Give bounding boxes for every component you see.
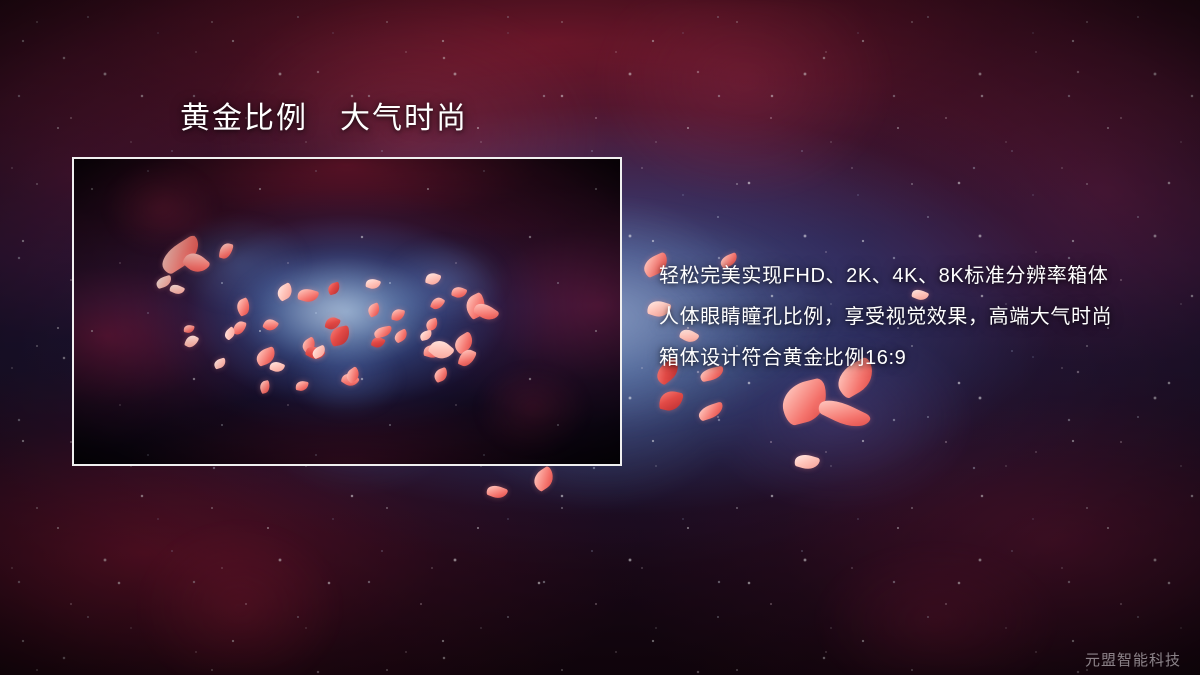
petal-decoration — [794, 452, 821, 472]
body-line-2: 人体眼睛瞳孔比例，享受视觉效果，高端大气时尚 — [659, 297, 1179, 338]
framed-image-nebula — [74, 159, 620, 464]
petal-decoration — [366, 302, 381, 317]
petal-decoration — [425, 317, 440, 331]
slide-canvas: 黄金比例 大气时尚 轻松完美实现FHD、2K、4K、8K标准分辨率箱体 人体眼睛… — [0, 0, 1200, 675]
petal-decoration — [213, 358, 227, 370]
petal-decoration — [295, 380, 309, 392]
petal-decoration — [297, 286, 320, 304]
petal-decoration — [183, 324, 194, 334]
petal-decoration — [486, 483, 509, 501]
body-line-3: 箱体设计符合黄金比例16:9 — [659, 338, 1179, 379]
petal-decoration — [169, 282, 186, 296]
petal-decoration — [429, 295, 445, 312]
petal-decoration — [275, 282, 296, 302]
petal-decoration — [218, 242, 234, 260]
petal-decoration — [392, 328, 409, 343]
petal-decoration — [373, 326, 392, 339]
watermark: 元盟智能科技 — [1085, 649, 1181, 670]
petal-decoration — [530, 465, 558, 492]
petal-decoration — [658, 389, 684, 413]
petal-decoration — [424, 271, 441, 287]
framed-image — [72, 157, 622, 466]
petal-decoration — [427, 336, 455, 364]
body-text-block: 轻松完美实现FHD、2K、4K、8K标准分辨率箱体 人体眼睛瞳孔比例，享受视觉效… — [659, 256, 1179, 379]
petal-decoration — [262, 316, 279, 333]
body-line-1: 轻松完美实现FHD、2K、4K、8K标准分辨率箱体 — [659, 256, 1179, 297]
petal-decoration — [697, 401, 726, 421]
framed-image-vignette — [74, 159, 620, 464]
page-title: 黄金比例 大气时尚 — [180, 102, 468, 135]
petal-decoration — [365, 277, 381, 291]
petal-decoration — [432, 367, 449, 383]
petal-decoration — [234, 297, 252, 317]
framed-image-core-glow — [74, 159, 620, 464]
framed-image-starfield — [74, 159, 620, 464]
framed-image-wisps — [74, 159, 620, 464]
petal-decoration — [269, 360, 286, 375]
petal-decoration — [184, 333, 200, 350]
petal-decoration — [419, 330, 433, 341]
petal-decoration — [816, 394, 872, 435]
petal-decoration — [391, 308, 406, 323]
petal-decoration — [327, 282, 342, 296]
petal-decoration — [259, 380, 272, 394]
petal-decoration — [450, 285, 467, 300]
